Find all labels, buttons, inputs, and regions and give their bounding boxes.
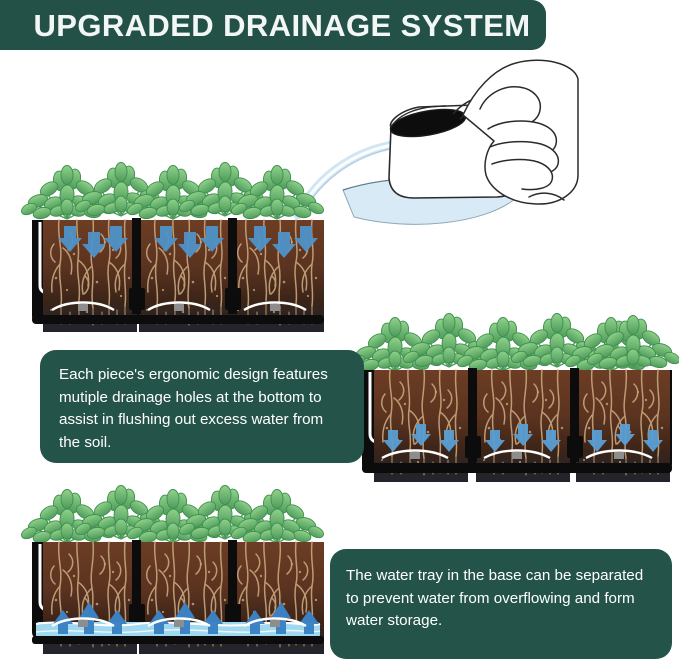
header-banner: UPGRADED DRAINAGE SYSTEM [0,0,546,50]
callout-2-text: The water tray in the base can be separa… [346,565,656,633]
tray-base [32,636,324,644]
tray-base [32,315,324,324]
planter-tray-middle [358,312,676,480]
tray-base [362,463,672,473]
planter-tray-bottom [28,484,328,649]
callout-1-text: Each piece's ergonomic design features m… [59,364,347,454]
callout-drainage-holes: Each piece's ergonomic design features m… [40,350,364,463]
plant-foliage-row [20,486,326,545]
plant-foliage-row [348,314,679,373]
infographic-canvas: UPGRADED DRAINAGE SYSTEM [0,0,679,647]
watering-can-illustration [288,57,578,247]
planter-tray-top [28,160,328,330]
page-title: UPGRADED DRAINAGE SYSTEM [15,10,530,41]
plant-foliage-row [20,163,326,221]
callout-water-tray: The water tray in the base can be separa… [330,549,672,659]
